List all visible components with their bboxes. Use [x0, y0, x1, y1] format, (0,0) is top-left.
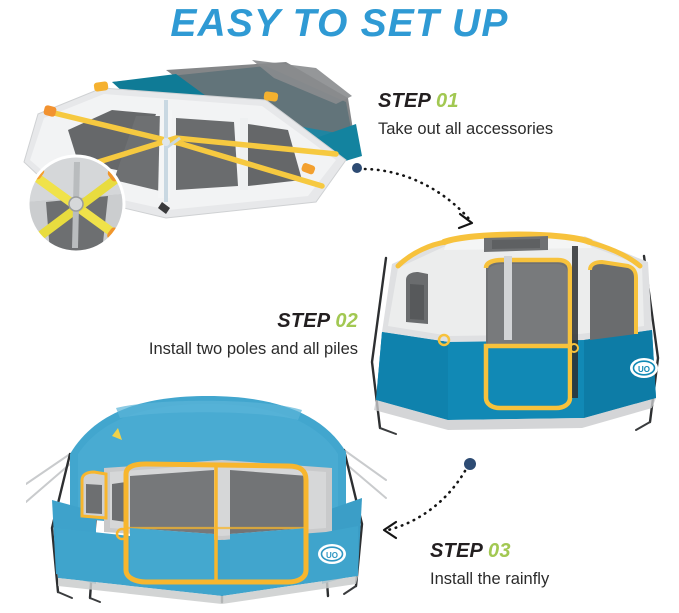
step-01-kicker-text: STEP [378, 90, 431, 112]
step-01-description: Take out all accessories [378, 120, 553, 140]
step-01-number: 01 [436, 90, 459, 112]
page-title: EASY TO SET UP [0, 2, 679, 46]
connector-2-start-dot [464, 458, 476, 470]
step-02-description: Install two poles and all piles [68, 340, 358, 360]
step-03-kicker-text: STEP [430, 540, 483, 562]
step-02-number: 02 [335, 310, 358, 332]
illustration-tent-rainfly: UO [26, 388, 388, 612]
step-02-label: STEP02 [68, 310, 358, 332]
illustration-tent-unfolded [16, 52, 366, 257]
infographic-canvas: EASY TO SET UP [0, 0, 679, 613]
svg-text:UO: UO [638, 365, 650, 374]
step-03-number: 03 [488, 540, 511, 562]
step-02-kicker-text: STEP [277, 310, 330, 332]
step-block-01: STEP01 Take out all accessories [378, 90, 553, 140]
svg-text:UO: UO [326, 551, 338, 560]
step-03-description: Install the rainfly [430, 570, 549, 590]
step-03-label: STEP03 [430, 540, 549, 562]
tent-logo-badge: UO [318, 544, 346, 564]
step-01-label: STEP01 [378, 90, 553, 112]
step-block-03: STEP03 Install the rainfly [430, 540, 549, 590]
illustration-tent-assembled: UO [352, 222, 678, 452]
tent-logo-badge: UO [630, 358, 658, 378]
step-block-02: STEP02 Install two poles and all piles [68, 310, 358, 360]
